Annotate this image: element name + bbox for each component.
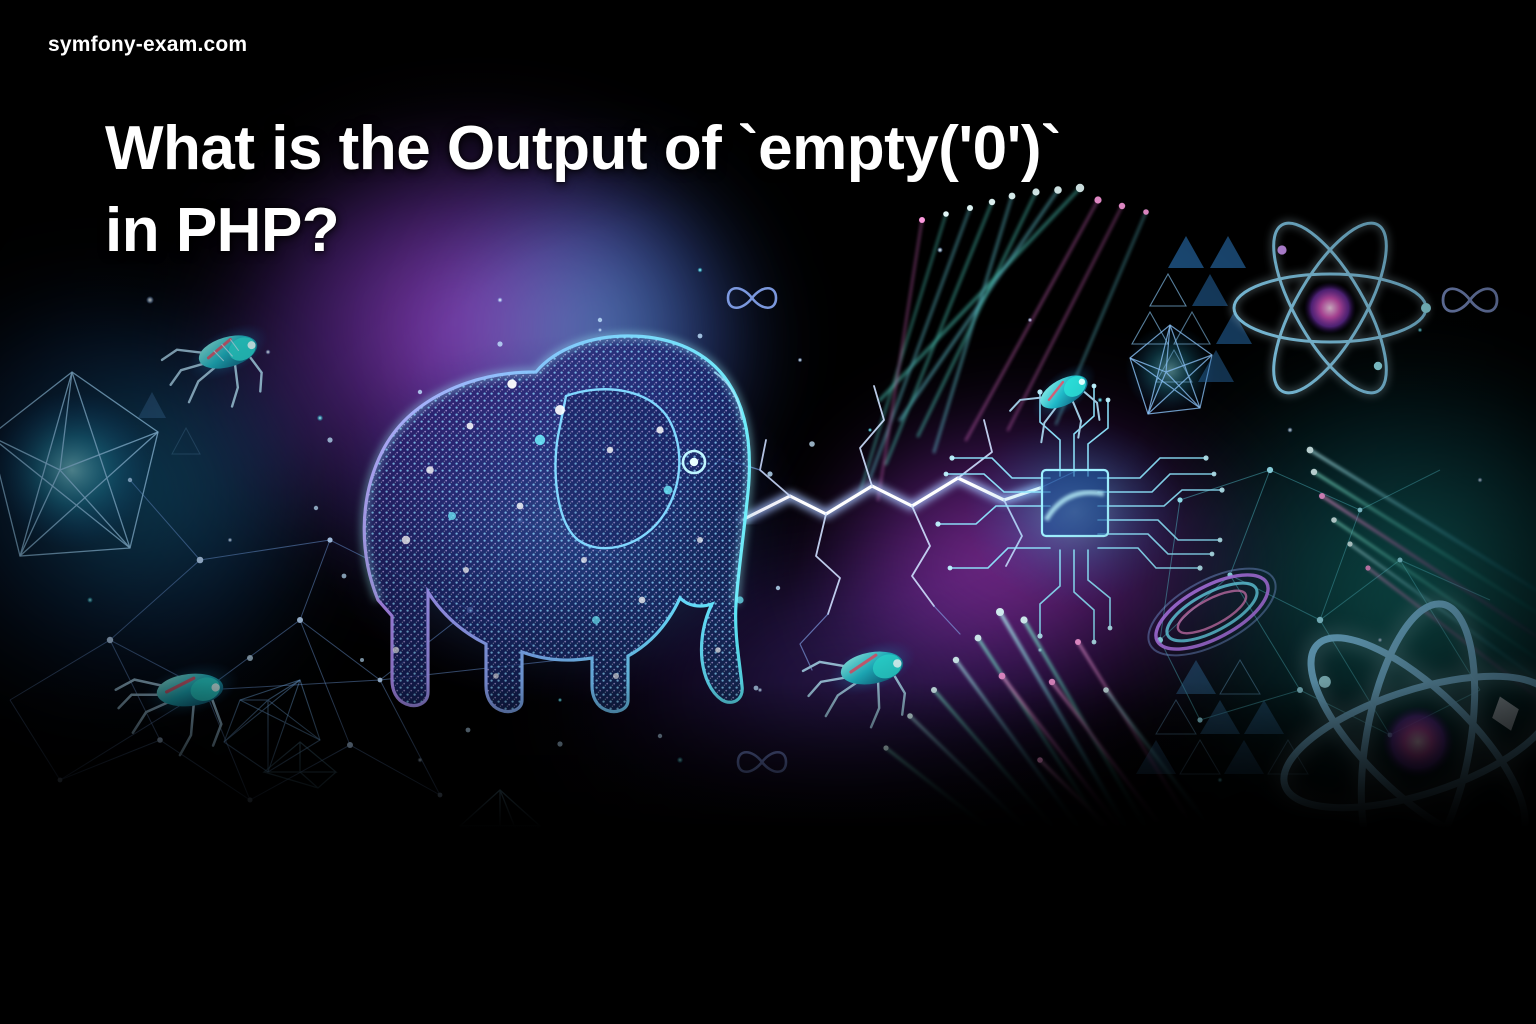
triangle-grid-icon-midleft xyxy=(138,392,200,454)
polyhedron-icon-bottomleft xyxy=(224,680,320,772)
polyhedron-icon-topright xyxy=(1125,325,1215,415)
elephant-drift-particles xyxy=(314,318,780,747)
network-nodes-left xyxy=(58,478,523,803)
site-watermark: symfony-exam.com xyxy=(48,33,247,57)
elephant-particle-cyan xyxy=(448,435,744,624)
page-title-line-2: in PHP? xyxy=(105,190,1405,272)
elephant-icon xyxy=(314,318,805,747)
polyhedron-icon-left xyxy=(0,372,158,556)
infinity-icon-bottom-mid xyxy=(738,752,786,772)
bottom-fade-overlay xyxy=(0,682,1536,852)
wireframe-pyramid-icon-left xyxy=(30,830,110,852)
page-title: What is the Output of `empty('0')` in PH… xyxy=(105,108,1405,272)
nebula-cloud-violet-bottom xyxy=(560,560,1120,852)
bug-legs xyxy=(158,320,270,427)
accent-node xyxy=(809,441,815,447)
network-mesh-right xyxy=(1160,470,1490,735)
infinity-icon-top-mid xyxy=(728,288,776,308)
orbit-ring-icon xyxy=(1135,551,1289,673)
wireframe-pyramid-icon-midleft xyxy=(264,742,336,788)
network-mesh-left xyxy=(10,480,620,800)
nebula-cloud-blue-far-left xyxy=(0,300,300,720)
cpu-trace-nodes xyxy=(935,384,1224,645)
fiber-optic-icon-right xyxy=(1307,447,1536,696)
page-title-line-1: What is the Output of `empty('0')` xyxy=(105,108,1405,190)
fiber-optic-icon-bottom xyxy=(883,608,1228,852)
elephant-particle-highlights xyxy=(393,379,721,679)
network-nodes-right xyxy=(1157,467,1403,737)
nebula-cloud-teal-right xyxy=(1160,360,1536,830)
wireframe-pyramid-icon-bottom xyxy=(460,790,540,840)
lightning-icon xyxy=(700,386,1078,670)
hero-banner: symfony-exam.com What is the Output of `… xyxy=(0,0,1536,1024)
cpu-icon xyxy=(935,384,1224,645)
infinity-icon-top-right xyxy=(1443,289,1497,312)
bug-icon-lower-left xyxy=(112,652,255,768)
bug-legs xyxy=(1009,363,1107,460)
atom-icon-bottom-right xyxy=(1239,556,1536,852)
bug-legs xyxy=(798,637,912,745)
accent-node xyxy=(247,655,253,661)
triangle-grid-icon-bottom xyxy=(1136,660,1308,774)
bug-icon-upper-right xyxy=(1009,350,1122,460)
nebula-cloud-magenta-mid xyxy=(840,400,1260,730)
bug-icon-lower-mid xyxy=(798,627,935,744)
starfield xyxy=(87,247,1483,783)
bug-legs xyxy=(112,660,226,768)
bug-icon-upper-left xyxy=(158,308,291,427)
